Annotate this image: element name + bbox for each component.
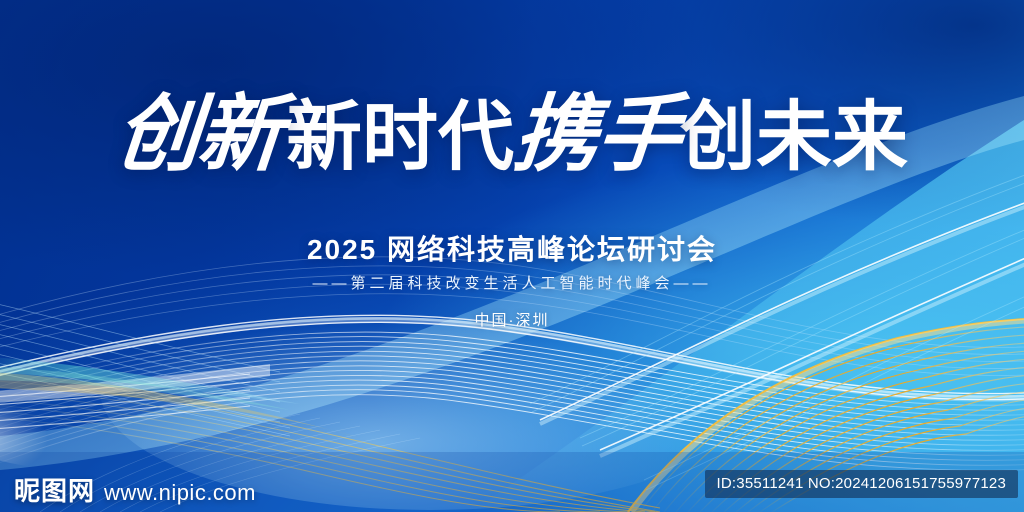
image-id-tag: ID:35511241 NO:20241206151755977123	[705, 470, 1018, 498]
subtitle: 2025 网络科技高峰论坛研讨会	[0, 228, 1024, 268]
nipic-logo-text: 昵图网	[14, 478, 95, 504]
tagline: ——第二届科技改变生活人工智能时代峰会——	[0, 272, 1024, 293]
poster-canvas: 创新新时代携手创未来 2025 网络科技高峰论坛研讨会 ——第二届科技改变生活人…	[0, 0, 1024, 512]
headline-part-xieshou: 携手	[510, 92, 683, 176]
page-title: 创新新时代携手创未来	[116, 92, 908, 176]
nipic-url-text: www.nipic.com	[104, 481, 256, 504]
headline-part-chuangxin: 创新	[112, 92, 283, 176]
headline-part-xinshidai: 新时代	[286, 95, 514, 180]
headline-block: 创新新时代携手创未来	[0, 92, 1024, 176]
location-label: 中国·深圳	[0, 309, 1024, 330]
watermark: 昵图网 www.nipic.com	[14, 478, 256, 504]
headline-part-chuangweilai: 创未来	[680, 95, 908, 180]
